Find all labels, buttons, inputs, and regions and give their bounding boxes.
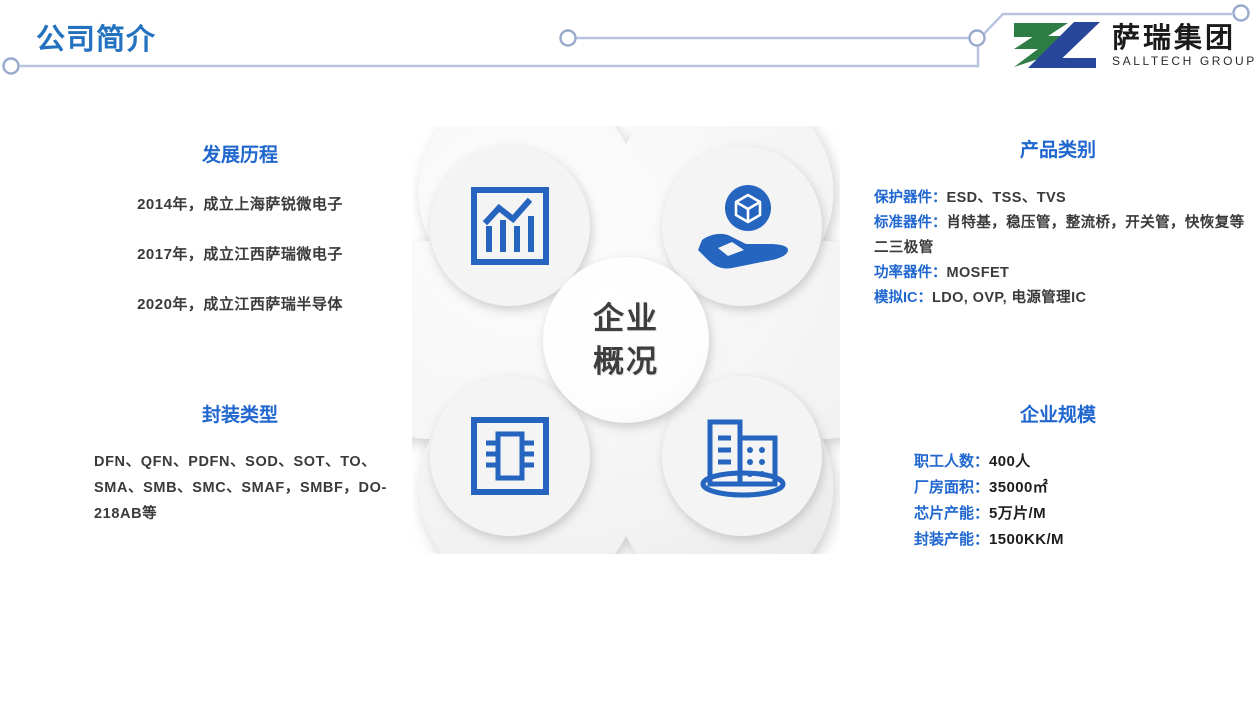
page-title: 公司简介: [36, 16, 156, 58]
scale-row: 芯片产能：5万片/M: [914, 501, 1254, 527]
scale-label: 芯片产能：: [914, 505, 989, 522]
enterprise-scale-body: 职工人数：400人 厂房面积：35000㎡ 芯片产能：5万片/M 封装产能：15…: [862, 449, 1254, 553]
deco-circle-left: [4, 59, 19, 74]
deco-circle-junction: [970, 31, 985, 46]
product-label: 保护器件：: [874, 190, 947, 206]
product-row: 标准器件：肖特基，稳压管，整流桥，开关管，快恢复等二三极管: [874, 211, 1254, 261]
panel-title-package: 封装类型: [60, 400, 420, 427]
product-label: 标准器件：: [874, 215, 947, 231]
logo-name-en: SALLTECH GROUP: [1112, 55, 1256, 67]
lobe-bottom-left: [430, 376, 590, 536]
product-row: 功率器件：MOSFET: [874, 261, 1254, 286]
salltech-sz-logo-icon: [1012, 19, 1104, 71]
scale-value: 400人: [989, 453, 1031, 470]
scale-row: 职工人数：400人: [914, 449, 1254, 475]
page-header: 公司简介 萨瑞集团 SALLTECH GROUP: [0, 0, 1256, 100]
scale-value: 1500KK/M: [989, 531, 1064, 548]
product-value: MOSFET: [947, 265, 1010, 281]
scale-label: 职工人数：: [914, 453, 989, 470]
history-line: 2020年，成立江西萨瑞半导体: [60, 293, 420, 314]
panel-enterprise-scale: 企业规模 职工人数：400人 厂房面积：35000㎡ 芯片产能：5万片/M 封装…: [862, 400, 1254, 553]
scale-row: 厂房面积：35000㎡: [914, 475, 1254, 501]
panel-title-history: 发展历程: [60, 140, 420, 167]
deco-circle-mid: [561, 31, 576, 46]
scale-value: 35000㎡: [989, 479, 1048, 496]
product-label: 模拟IC：: [874, 290, 932, 306]
product-label: 功率器件：: [874, 265, 947, 281]
logo-name-cn: 萨瑞集团: [1112, 24, 1256, 52]
scale-value: 5万片/M: [989, 505, 1046, 522]
scale-row: 封装产能：1500KK/M: [914, 527, 1254, 553]
product-row: 保护器件：ESD、TSS、TVS: [874, 186, 1254, 211]
product-value: ESD、TSS、TVS: [947, 190, 1067, 206]
panel-package-types: 封装类型 DFN、QFN、PDFN、SOD、SOT、TO、SMA、SMB、SMC…: [60, 400, 420, 527]
panel-development-history: 发展历程 2014年，成立上海萨锐微电子 2017年，成立江西萨瑞微电子 202…: [60, 140, 420, 343]
lobe-top-left: [430, 146, 590, 306]
panel-title-products: 产品类别: [862, 135, 1254, 162]
package-types-text: DFN、QFN、PDFN、SOD、SOT、TO、SMA、SMB、SMC、SMAF…: [60, 449, 420, 527]
history-line: 2017年，成立江西萨瑞微电子: [60, 243, 420, 264]
scale-label: 封装产能：: [914, 531, 989, 548]
product-value: LDO, OVP, 电源管理IC: [932, 290, 1086, 306]
product-row: 模拟IC：LDO, OVP, 电源管理IC: [874, 286, 1254, 311]
panel-product-categories: 产品类别 保护器件：ESD、TSS、TVS 标准器件：肖特基，稳压管，整流桥，开…: [862, 135, 1254, 311]
panel-title-scale: 企业规模: [862, 400, 1254, 427]
enterprise-overview-diagram: 企业 概况: [412, 126, 840, 554]
product-categories-body: 保护器件：ESD、TSS、TVS 标准器件：肖特基，稳压管，整流桥，开关管，快恢…: [862, 186, 1254, 311]
scale-label: 厂房面积：: [914, 479, 989, 496]
company-logo: 萨瑞集团 SALLTECH GROUP: [1012, 16, 1242, 74]
diagram-center-circle: [543, 257, 709, 423]
history-line: 2014年，成立上海萨锐微电子: [60, 193, 420, 214]
